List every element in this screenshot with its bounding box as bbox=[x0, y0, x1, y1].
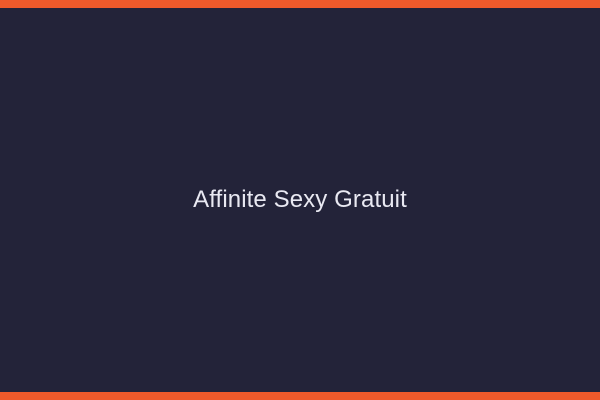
placeholder-image-card: Affinite Sexy Gratuit bbox=[0, 0, 600, 400]
top-accent-bar bbox=[0, 0, 600, 8]
bottom-accent-bar bbox=[0, 392, 600, 400]
placeholder-body: Affinite Sexy Gratuit bbox=[0, 8, 600, 392]
placeholder-title: Affinite Sexy Gratuit bbox=[177, 186, 423, 215]
